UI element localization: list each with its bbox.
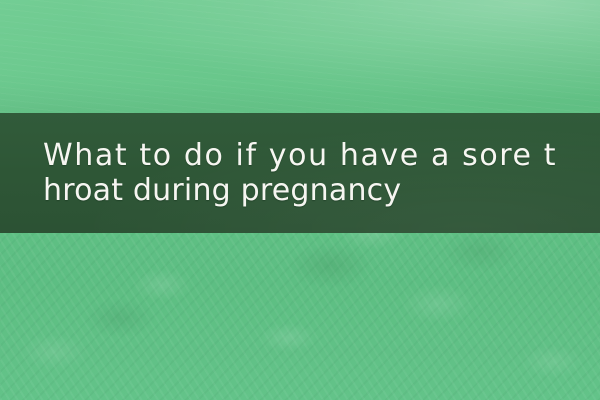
title-line-2: hroat during pregnancy <box>43 173 600 208</box>
title-line-1: What to do if you have a sore t <box>43 138 600 173</box>
title-banner: What to do if you have a sore t hroat du… <box>0 113 600 233</box>
article-hero-image: What to do if you have a sore t hroat du… <box>0 0 600 400</box>
